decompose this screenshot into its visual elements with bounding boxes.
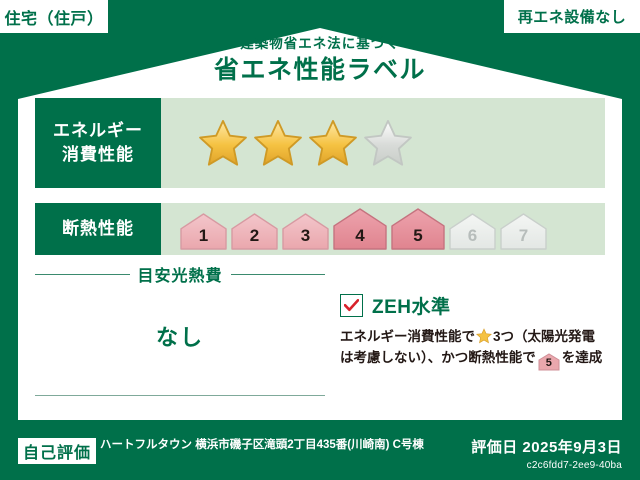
label-id: c2c6fdd7-2ee9-40ba [471,460,622,471]
label-footer: 自己評価 ハートフルタウン 横浜市磯子区滝頭2丁目435番(川崎南) C号棟 評… [0,428,640,480]
energy-performance-label: 住宅（住戸） 再エネ設備なし 建築物省エネ法に基づく 省エネ性能ラベル エネルギ… [0,0,640,480]
self-evaluation-label: 自己評価 [23,439,91,463]
star-filled-icon [252,118,304,168]
insulation-grade-value: 5 [413,226,422,252]
insulation-grade-value: 7 [519,226,528,252]
insulation-grade-7: 7 [499,212,548,252]
footer-divider [35,395,325,396]
insulation-grade-scale: 1234567 [179,207,548,252]
renewable-equipment-tag: 再エネ設備なし [504,0,640,33]
building-type-tag-label: 住宅（住戸） [4,5,103,29]
zeh-title: ZEH水準 [372,292,451,319]
insulation-performance-row: 断熱性能 1234567 [35,203,605,255]
insulation-grade-value: 6 [468,226,477,252]
insulation-grade-2: 2 [230,212,279,252]
star-empty-icon [362,118,414,168]
insulation-grade-1: 1 [179,212,228,252]
check-icon [340,294,363,317]
zeh-desc-stars: 3つ（太陽光発電 [493,329,595,344]
zeh-desc-part1: エネルギー消費性能で [340,329,475,344]
utility-cost-title-row: 目安光熱費 [35,262,325,286]
inline-grade-badge: 5 [538,353,560,370]
energy-label-line1: エネルギー [53,119,143,143]
renewable-equipment-tag-label: 再エネ設備なし [518,6,627,27]
insulation-performance-value: 1234567 [161,203,605,255]
insulation-grade-4: 4 [332,207,388,252]
zeh-desc-part3: を達成 [562,350,603,365]
energy-performance-row: エネルギー 消費性能 [35,98,605,188]
insulation-performance-label-box: 断熱性能 [35,203,161,255]
insulation-grade-5: 5 [390,207,446,252]
star-filled-icon [307,118,359,168]
insulation-grade-value: 4 [355,226,364,252]
utility-cost-value: なし [35,320,325,352]
evaluation-date: 評価日 2025年9月3日 [471,436,622,457]
utility-cost-block: 目安光熱費 なし [35,262,325,352]
self-evaluation-badge: 自己評価 [18,438,96,464]
zeh-desc-part2: は考慮しない）、かつ断熱性能で [340,350,536,365]
star-filled-icon [197,118,249,168]
zeh-description: エネルギー消費性能で 3つ（太陽光発電 は考慮しない）、かつ断熱性能で 5を達成 [340,326,610,370]
insulation-grade-6: 6 [448,212,497,252]
star-rating [197,118,414,168]
energy-performance-value [161,98,605,188]
inline-grade-badge-value: 5 [538,353,560,374]
insulation-grade-3: 3 [281,212,330,252]
evaluation-date-block: 評価日 2025年9月3日 c2c6fdd7-2ee9-40ba [471,436,622,471]
energy-label-line2: 消費性能 [62,143,134,167]
property-address: ハートフルタウン 横浜市磯子区滝頭2丁目435番(川崎南) C号棟 [100,437,430,453]
insulation-grade-value: 3 [301,226,310,252]
energy-performance-label-box: エネルギー 消費性能 [35,98,161,188]
building-type-tag: 住宅（住戸） [0,0,108,33]
insulation-grade-value: 1 [199,226,208,252]
insulation-label: 断熱性能 [62,217,134,241]
rule-right [231,274,326,275]
rule-left [35,274,130,275]
utility-cost-title: 目安光熱費 [138,262,223,286]
zeh-header: ZEH水準 [340,292,610,319]
insulation-grade-value: 2 [250,226,259,252]
zeh-standard-block: ZEH水準 エネルギー消費性能で 3つ（太陽光発電 は考慮しない）、かつ断熱性能… [340,292,610,370]
inline-star-icon [476,328,492,344]
